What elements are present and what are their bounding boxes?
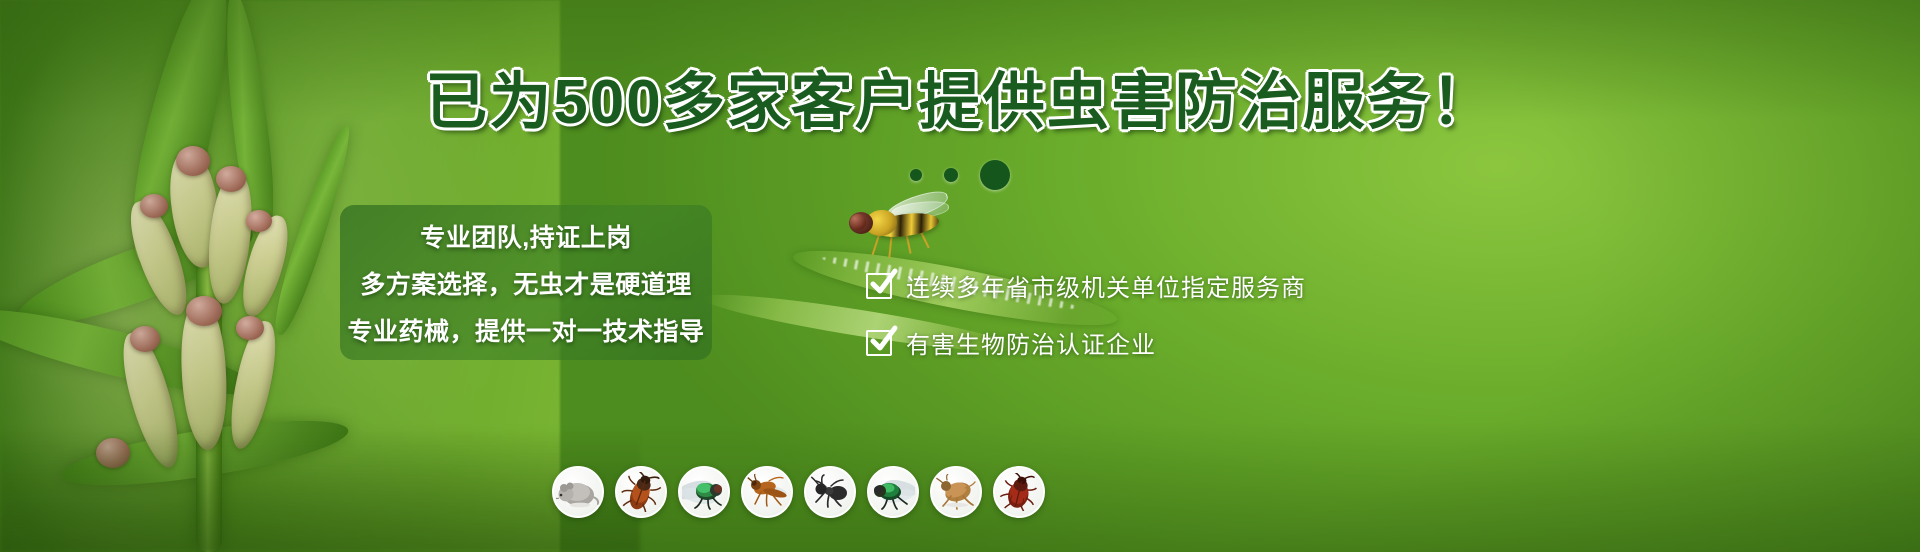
pest-control-banner: 已为500多家客户提供虫害防治服务！ 专业团队,持证上岗 多方案选择，无虫才是硬… (0, 0, 1920, 552)
decor-dot-large (980, 160, 1010, 190)
credential-item-1: 连续多年省市级机关单位指定服务商 (866, 268, 1306, 303)
checkbox-checked-icon (866, 330, 892, 356)
banner-headline-text: 已为500多家客户提供虫害防治服务！ (425, 68, 1494, 137)
decorative-dot-row (0, 160, 1920, 190)
pest-icon-row (552, 466, 1045, 518)
credential-item-2: 有害生物防治认证企业 (866, 325, 1306, 360)
mouse-icon[interactable] (552, 466, 604, 518)
bedbug-icon[interactable] (993, 466, 1045, 518)
credential-text-1: 连续多年省市级机关单位指定服务商 (906, 268, 1306, 303)
banner-headline: 已为500多家客户提供虫害防治服务！ (0, 72, 1920, 134)
blowfly-icon[interactable] (867, 466, 919, 518)
decor-dot-small-left (910, 169, 922, 181)
credential-list: 连续多年省市级机关单位指定服务商 有害生物防治认证企业 (866, 268, 1306, 360)
ant-icon[interactable] (804, 466, 856, 518)
checkbox-checked-icon (866, 273, 892, 299)
mosquito-icon[interactable] (741, 466, 793, 518)
flea-icon[interactable] (930, 466, 982, 518)
slogan-line-3: 专业药械，提供一对一技术指导 (348, 312, 705, 348)
credential-text-2: 有害生物防治认证企业 (906, 325, 1156, 360)
slogan-line-1: 专业团队,持证上岗 (420, 218, 631, 254)
slogan-panel: 专业团队,持证上岗 多方案选择，无虫才是硬道理 专业药械，提供一对一技术指导 (340, 205, 712, 360)
slogan-line-2: 多方案选择，无虫才是硬道理 (360, 265, 692, 301)
decor-dot-medium (944, 168, 958, 182)
fly-icon[interactable] (678, 466, 730, 518)
cockroach-icon[interactable] (615, 466, 667, 518)
